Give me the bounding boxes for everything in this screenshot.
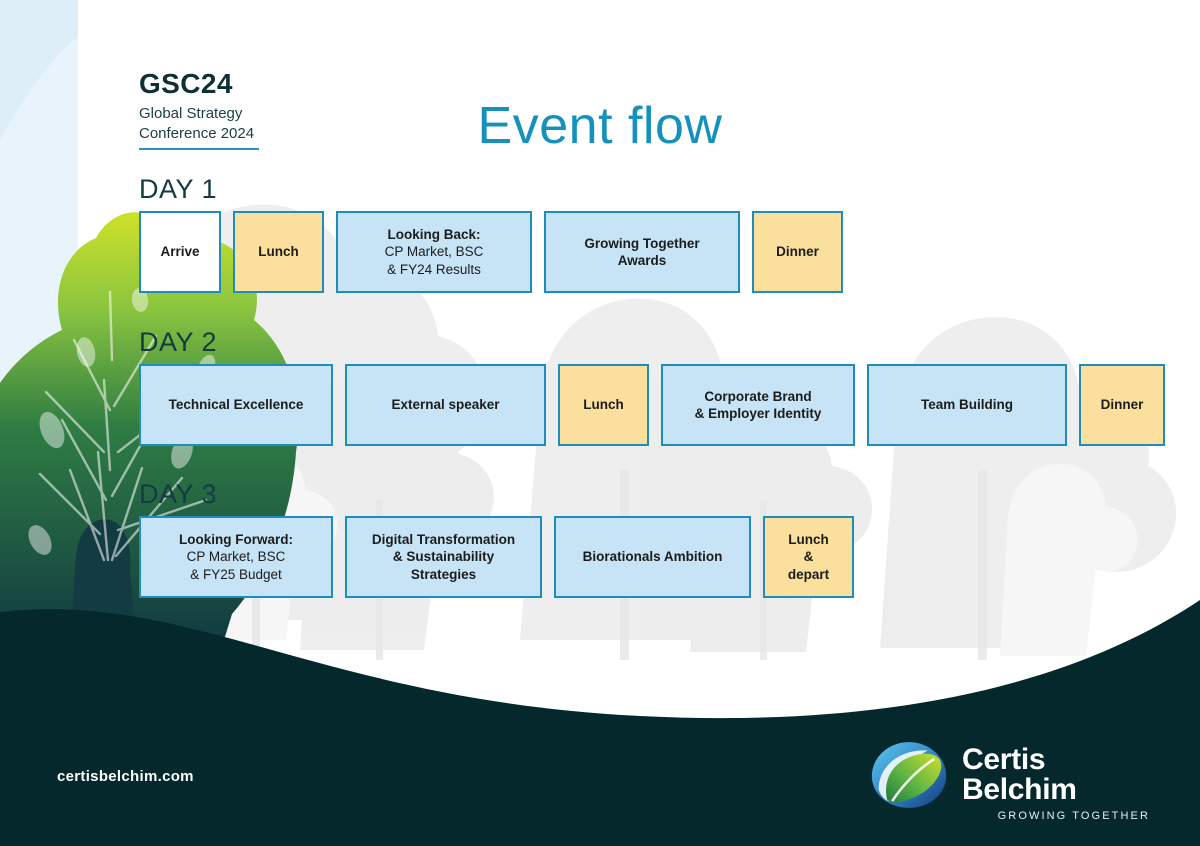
event-box[interactable]: Lunch [233, 211, 324, 293]
event-box[interactable]: Lunch & depart [763, 516, 854, 598]
event-title: Digital Transformation & Sustainability … [372, 531, 515, 583]
event-box[interactable]: Team Building [867, 364, 1067, 446]
day-section-1: DAY 1 ArriveLunchLooking Back:CP Market,… [139, 176, 843, 293]
event-box[interactable]: Technical Excellence [139, 364, 333, 446]
event-detail: CP Market, BSC & FY24 Results [385, 243, 484, 278]
event-title: Lunch & depart [788, 531, 829, 583]
logo-wordmark: Certis Belchim GROWING TOGETHER [962, 745, 1152, 822]
event-detail: CP Market, BSC & FY25 Budget [179, 548, 293, 583]
event-box[interactable]: Arrive [139, 211, 221, 293]
day-row: ArriveLunchLooking Back:CP Market, BSC &… [139, 211, 843, 293]
event-title: Dinner [1101, 396, 1144, 413]
day-label: DAY 2 [139, 329, 1165, 356]
website-url[interactable]: certisbelchim.com [57, 768, 194, 785]
event-box[interactable]: Lunch [558, 364, 649, 446]
logo-tagline: GROWING TOGETHER [962, 810, 1152, 822]
event-box[interactable]: Digital Transformation & Sustainability … [345, 516, 542, 598]
brand-title: GSC24 [139, 70, 399, 98]
event-box[interactable]: Dinner [1079, 364, 1165, 446]
day-section-3: DAY 3 Looking Forward:CP Market, BSC & F… [139, 481, 854, 598]
day-row: Looking Forward:CP Market, BSC & FY25 Bu… [139, 516, 854, 598]
event-title: Arrive [160, 243, 199, 260]
day-label: DAY 3 [139, 481, 854, 508]
company-logo: Certis Belchim GROWING TOGETHER [866, 735, 1152, 815]
event-box[interactable]: Dinner [752, 211, 843, 293]
event-box[interactable]: External speaker [345, 364, 546, 446]
event-title: Looking Forward: [179, 531, 293, 548]
event-title: Technical Excellence [169, 396, 304, 413]
slide-canvas: GSC24 Global Strategy Conference 2024 Ev… [0, 0, 1200, 846]
page-title: Event flow [0, 96, 1200, 156]
event-title: Corporate Brand & Employer Identity [695, 388, 822, 423]
event-box[interactable]: Corporate Brand & Employer Identity [661, 364, 855, 446]
event-title: External speaker [391, 396, 499, 413]
event-title: Looking Back: [385, 226, 484, 243]
event-box[interactable]: Biorationals Ambition [554, 516, 751, 598]
event-title: Dinner [776, 243, 819, 260]
event-title: Team Building [921, 396, 1013, 413]
event-title: Biorationals Ambition [583, 548, 723, 565]
event-title: Lunch [583, 396, 624, 413]
certis-belchim-logo-icon [866, 737, 952, 813]
event-title: Growing Together Awards [584, 235, 699, 270]
event-box[interactable]: Looking Back:CP Market, BSC & FY24 Resul… [336, 211, 532, 293]
day-section-2: DAY 2 Technical ExcellenceExternal speak… [139, 329, 1165, 446]
event-box[interactable]: Growing Together Awards [544, 211, 740, 293]
day-label: DAY 1 [139, 176, 843, 203]
event-title: Lunch [258, 243, 299, 260]
logo-company-name: Certis Belchim [962, 745, 1152, 805]
event-box[interactable]: Looking Forward:CP Market, BSC & FY25 Bu… [139, 516, 333, 598]
day-row: Technical ExcellenceExternal speakerLunc… [139, 364, 1165, 446]
